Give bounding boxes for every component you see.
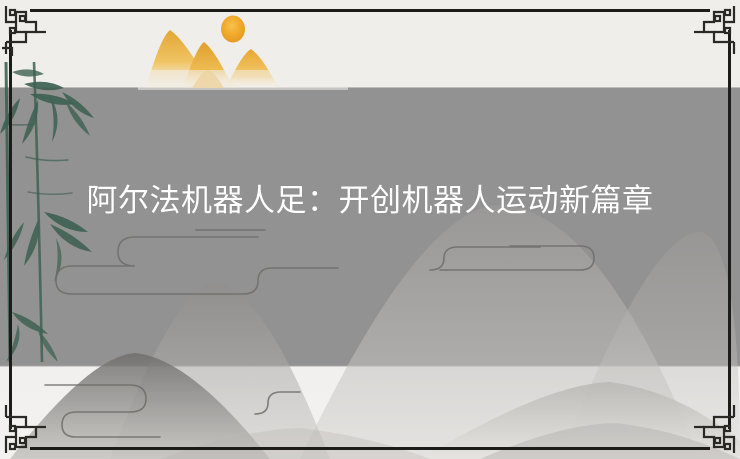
corner-ornament-icon-bottom-left bbox=[2, 403, 56, 457]
frame-rule-bottom bbox=[30, 447, 710, 450]
frame-rule-left bbox=[9, 30, 12, 429]
poster-canvas: 阿尔法机器人足：开创机器人运动新篇章 bbox=[0, 0, 740, 459]
background-bands bbox=[0, 0, 740, 459]
page-title: 阿尔法机器人足：开创机器人运动新篇章 bbox=[46, 178, 694, 225]
frame-rule-top bbox=[30, 9, 710, 12]
corner-ornament-icon-bottom-right bbox=[684, 403, 738, 457]
corner-ornament-icon-top-right bbox=[684, 2, 738, 56]
frame-rule-right bbox=[728, 30, 731, 429]
corner-ornament-icon-top-left bbox=[2, 2, 56, 56]
